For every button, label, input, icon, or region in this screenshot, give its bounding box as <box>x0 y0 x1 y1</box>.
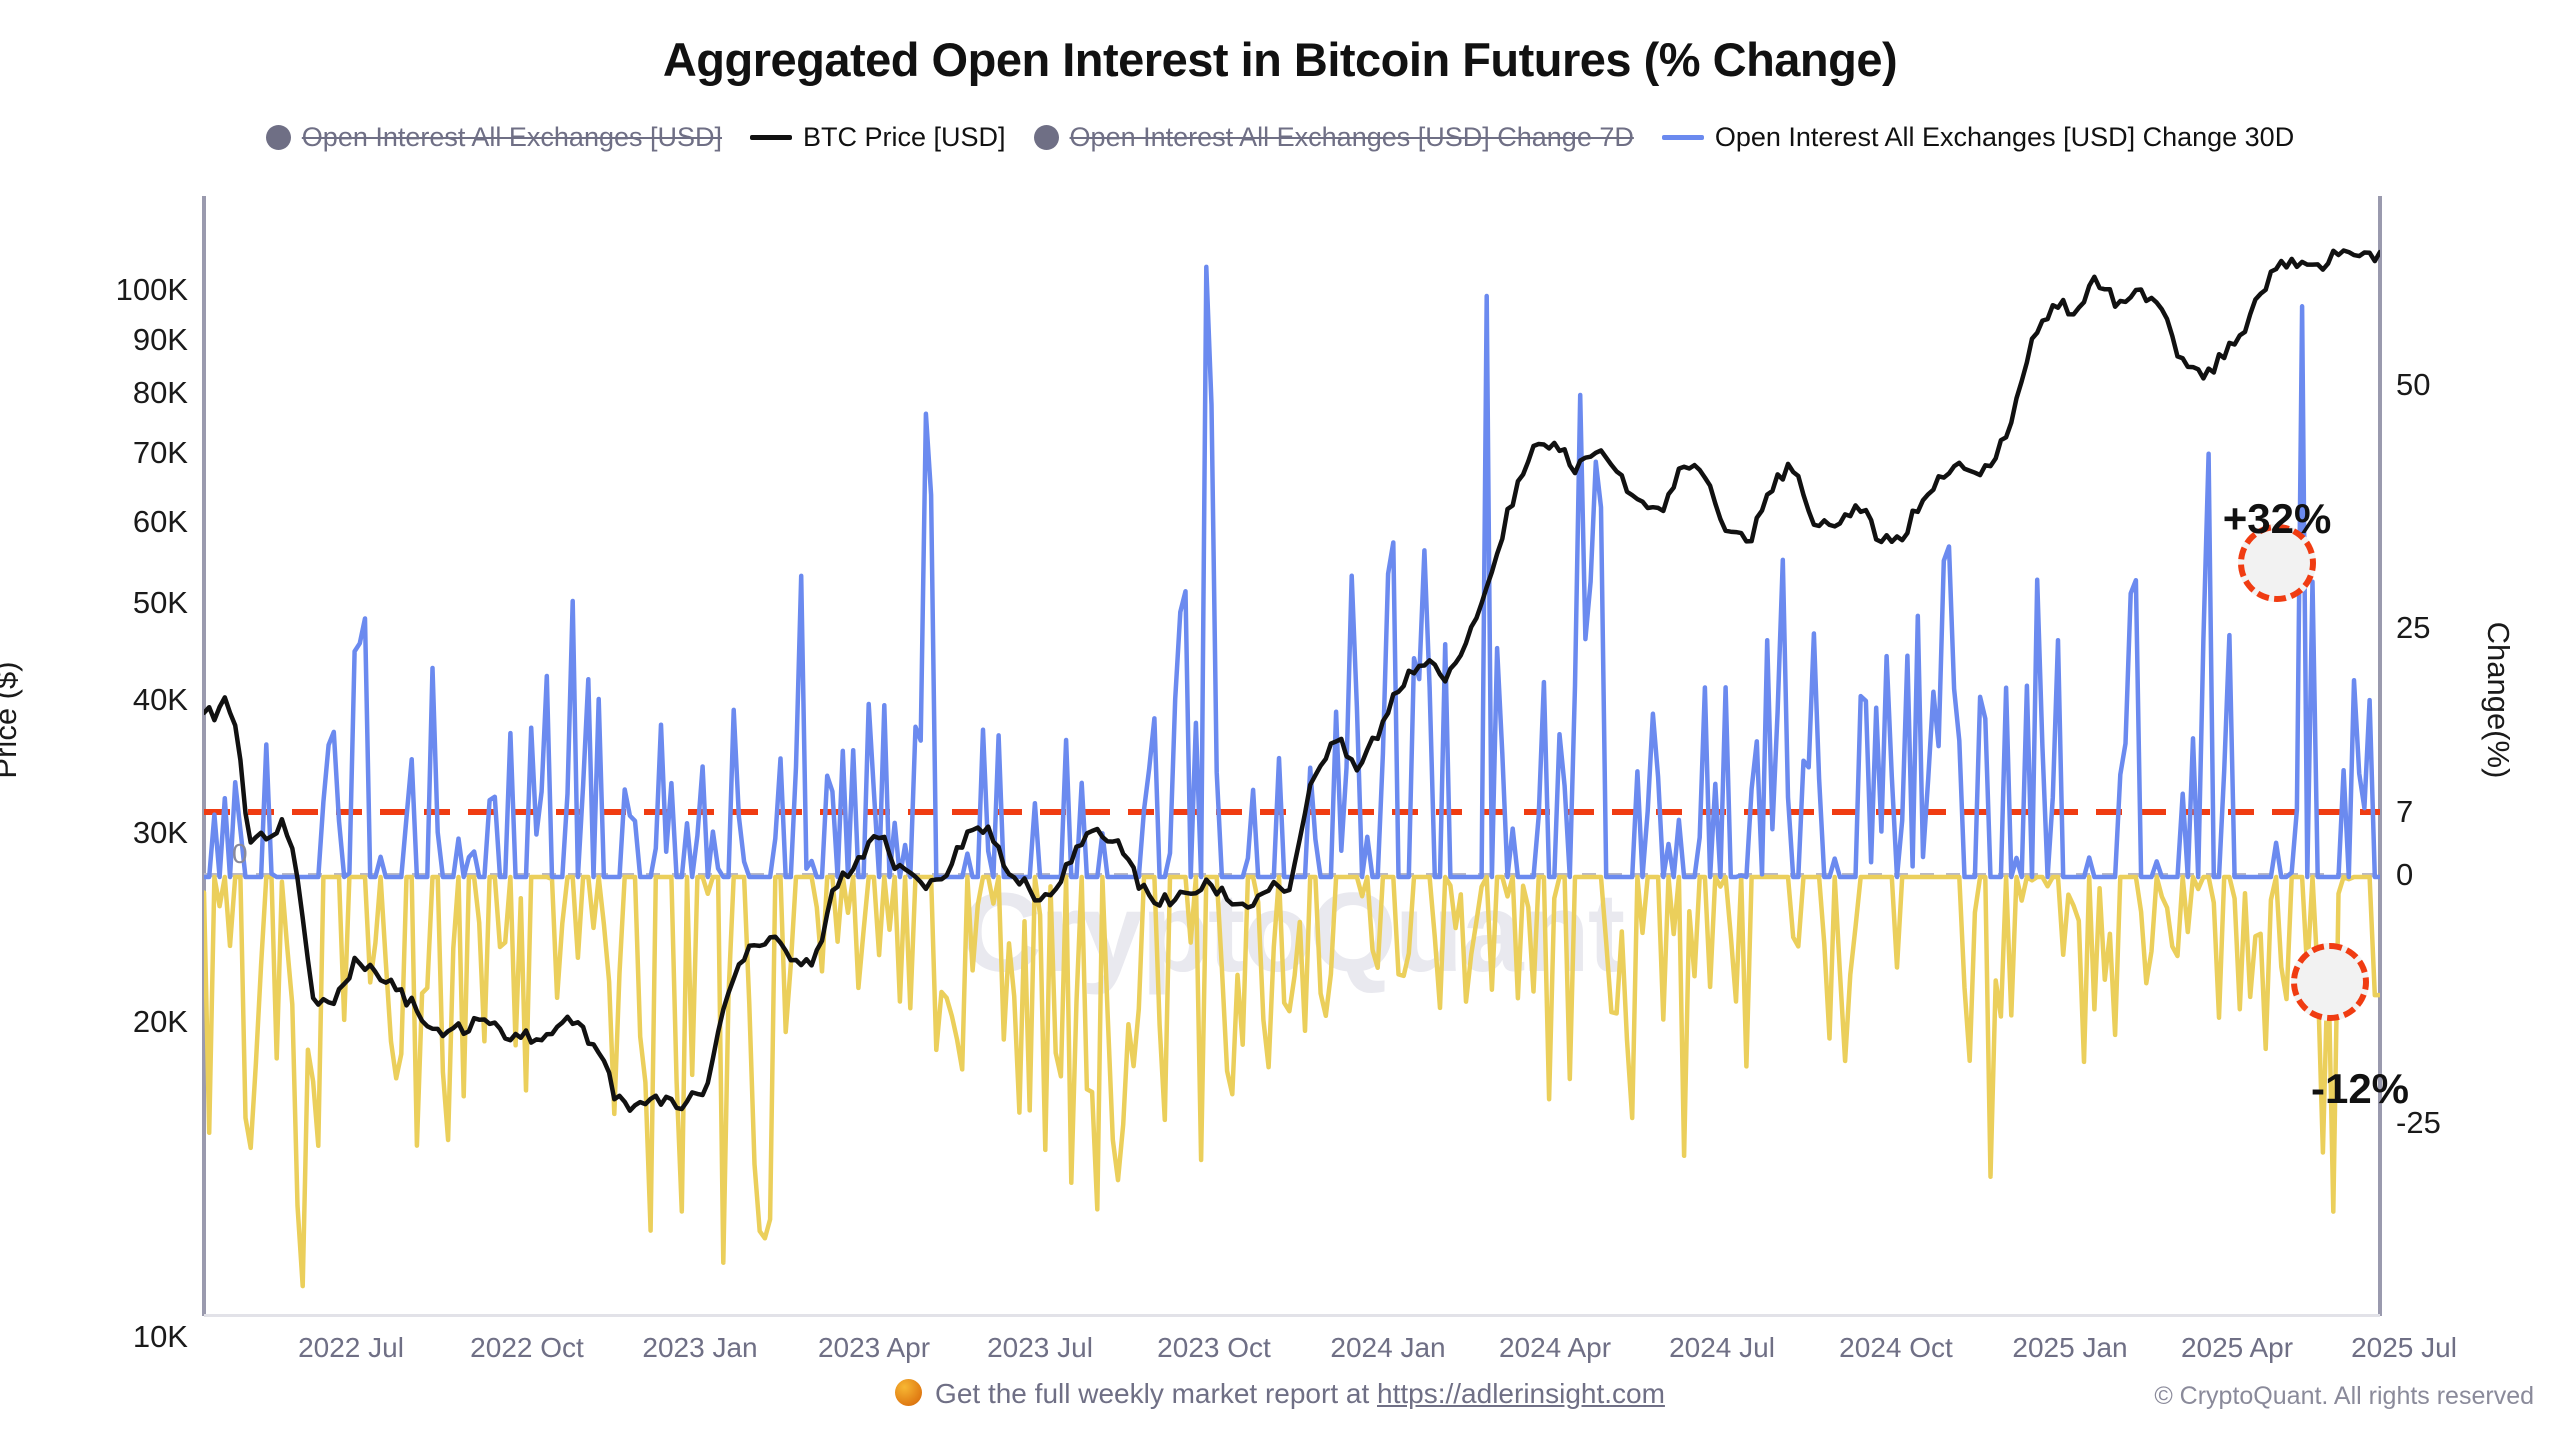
legend-item-3[interactable]: Open Interest All Exchanges [USD] Change… <box>1662 122 2294 153</box>
copyright-notice: © CryptoQuant. All rights reserved <box>2154 1382 2534 1411</box>
left-tick-label: 30K <box>133 815 188 851</box>
bitcoin-coin-icon <box>895 1379 922 1406</box>
right-tick-label: 7 <box>2396 794 2413 830</box>
chart-page: Aggregated Open Interest in Bitcoin Futu… <box>0 0 2560 1440</box>
annotation-label-1: -12% <box>2311 1065 2409 1113</box>
legend-item-0[interactable]: Open Interest All Exchanges [USD] <box>266 122 722 153</box>
legend-item-label: BTC Price [USD] <box>803 122 1006 153</box>
x-tick-label: 2024 Oct <box>1839 1332 1953 1364</box>
x-tick-label: 2022 Oct <box>470 1332 584 1364</box>
series-change-30d-positive <box>204 267 2380 877</box>
x-tick-label: 2023 Apr <box>818 1332 930 1364</box>
right-tick-label: 50 <box>2396 367 2430 403</box>
left-tick-label: 20K <box>133 1004 188 1040</box>
x-tick-label: 2023 Jul <box>987 1332 1093 1364</box>
legend-line-icon <box>750 135 792 140</box>
chart-legend: Open Interest All Exchanges [USD]BTC Pri… <box>0 122 2560 153</box>
legend-item-2[interactable]: Open Interest All Exchanges [USD] Change… <box>1034 122 1634 153</box>
left-tick-label: 10K <box>133 1319 188 1355</box>
x-tick-label: 2023 Oct <box>1157 1332 1271 1364</box>
plot-area[interactable]: CryptoQuant <box>204 196 2380 1316</box>
left-tick-label: 70K <box>133 435 188 471</box>
left-tick-label: 50K <box>133 585 188 621</box>
legend-line-icon <box>1662 135 1704 140</box>
x-tick-label: 2023 Jan <box>642 1332 757 1364</box>
right-tick-label: 25 <box>2396 610 2430 646</box>
left-tick-label: 100K <box>116 272 188 308</box>
x-tick-label: 2025 Jul <box>2351 1332 2457 1364</box>
legend-dot-icon <box>266 125 291 150</box>
legend-item-label: Open Interest All Exchanges [USD] Change… <box>1715 122 2294 153</box>
promo-link[interactable]: https://adlerinsight.com <box>1377 1378 1665 1409</box>
left-tick-label: 80K <box>133 375 188 411</box>
annotation-circle-1 <box>2291 943 2369 1021</box>
right-tick-label: 0 <box>2396 857 2413 893</box>
legend-item-label: Open Interest All Exchanges [USD] Change… <box>1070 122 1634 153</box>
page-title: Aggregated Open Interest in Bitcoin Futu… <box>0 32 2560 87</box>
x-tick-label: 2025 Jan <box>2012 1332 2127 1364</box>
left-axis-title: Price ($) <box>0 661 24 778</box>
left-tick-label: 90K <box>133 322 188 358</box>
promo-text: Get the full weekly market report at <box>935 1378 1377 1409</box>
left-tick-label: 60K <box>133 504 188 540</box>
annotation-label-0: +32% <box>2223 495 2332 543</box>
legend-item-label: Open Interest All Exchanges [USD] <box>302 122 722 153</box>
x-tick-label: 2024 Jul <box>1669 1332 1775 1364</box>
x-tick-label: 2022 Jul <box>298 1332 404 1364</box>
x-tick-label: 2024 Jan <box>1330 1332 1445 1364</box>
series-change-30d-negative <box>204 877 2380 1286</box>
chart-canvas <box>204 196 2380 1316</box>
legend-dot-icon <box>1034 125 1059 150</box>
x-tick-label: 2025 Apr <box>2181 1332 2293 1364</box>
left-tick-label: 40K <box>133 682 188 718</box>
right-axis-title: Change(%) <box>2480 622 2516 779</box>
zero-line-tag: 0 <box>232 838 248 870</box>
x-tick-label: 2024 Apr <box>1499 1332 1611 1364</box>
legend-item-1[interactable]: BTC Price [USD] <box>750 122 1006 153</box>
